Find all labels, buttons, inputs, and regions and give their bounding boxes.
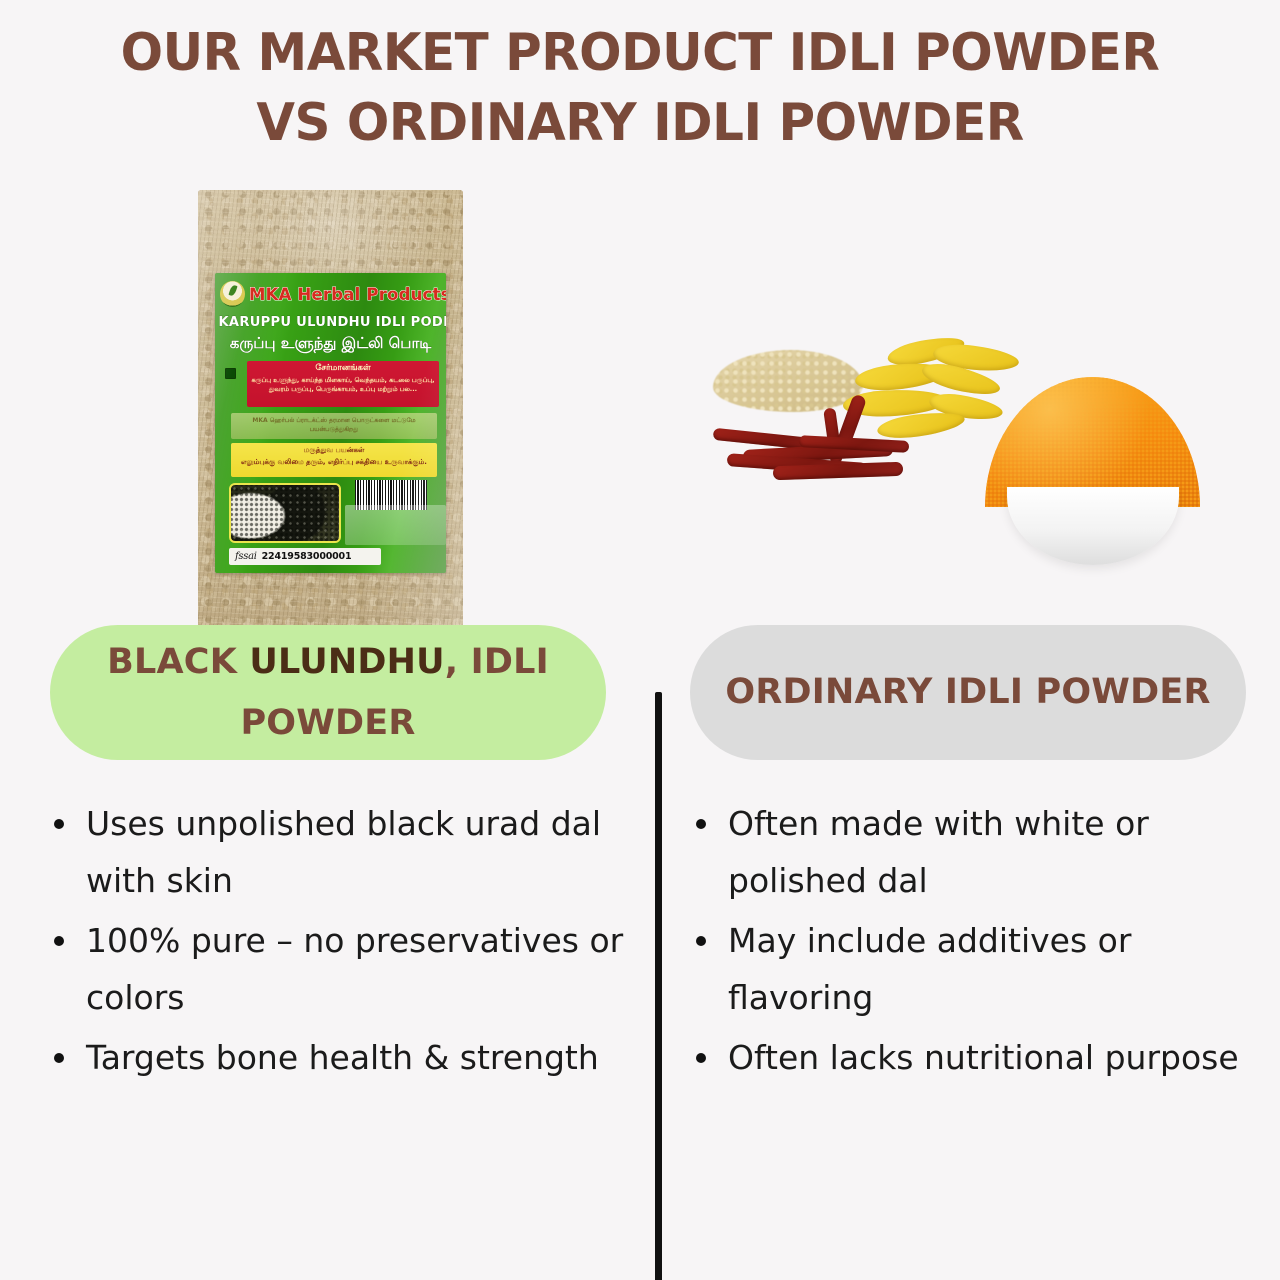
bullet-list-ordinary: Often made with white or polished dal Ma…: [682, 795, 1262, 1089]
column-divider: [655, 692, 662, 1280]
list-item: Uses unpolished black urad dal with skin: [40, 795, 630, 909]
comparison-columns: MKA Herbal Products KARUPPU ULUNDHU IDLI…: [0, 170, 1280, 1280]
heading-left-highlight: ULUNDHU: [249, 642, 444, 682]
heading-right-line1: ORDINARY IDLI: [725, 672, 1023, 712]
list-item: 100% pure – no preservatives or colors: [40, 912, 630, 1026]
ordinary-spices-image: [695, 330, 1235, 570]
infographic-page: OUR MARKET PRODUCT IDLI POWDER VS ORDINA…: [0, 0, 1280, 1280]
product-package-image: MKA Herbal Products KARUPPU ULUNDHU IDLI…: [198, 190, 463, 627]
list-item: Often lacks nutritional purpose: [682, 1029, 1262, 1086]
title-line-1: OUR MARKET PRODUCT IDLI POWDER: [26, 18, 1255, 88]
white-bowl: [1007, 487, 1179, 565]
page-title: OUR MARKET PRODUCT IDLI POWDER VS ORDINA…: [0, 18, 1280, 158]
pouch-sheen: [198, 190, 463, 627]
heading-left-prefix: BLACK: [107, 642, 249, 682]
column-ordinary-idli: ORDINARY IDLI POWDER Often made with whi…: [640, 170, 1280, 1280]
heading-pill-right-text: ORDINARY IDLI POWDER: [725, 662, 1210, 723]
heading-pill-ordinary: ORDINARY IDLI POWDER: [690, 625, 1246, 760]
heading-pill-black-ulundhu: BLACK ULUNDHU, IDLI POWDER: [50, 625, 606, 760]
spice-scene: [695, 330, 1235, 570]
orange-powder-bowl: [985, 365, 1200, 565]
column-black-ulundhu: MKA Herbal Products KARUPPU ULUNDHU IDLI…: [0, 170, 640, 1280]
list-item: Targets bone health & strength: [40, 1029, 630, 1086]
heading-pill-left-text: BLACK ULUNDHU, IDLI POWDER: [76, 632, 580, 754]
list-item: Often made with white or polished dal: [682, 795, 1262, 909]
dried-red-chilies: [703, 402, 963, 492]
list-item: May include additives or flavoring: [682, 912, 1262, 1026]
bullet-list-black-ulundhu: Uses unpolished black urad dal with skin…: [40, 795, 630, 1089]
title-line-2: VS ORDINARY IDLI POWDER: [26, 88, 1255, 158]
heading-right-line2: POWDER: [1036, 672, 1211, 712]
